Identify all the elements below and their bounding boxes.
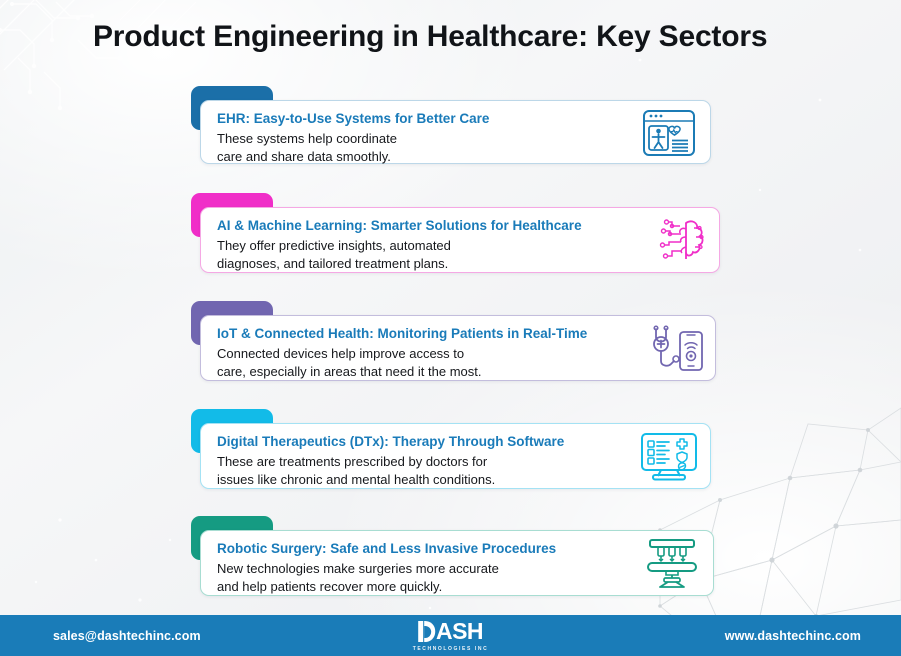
stethoscope-smartphone-icon [649, 323, 707, 377]
footer-email[interactable]: sales@dashtechinc.com [53, 629, 201, 643]
card-body: Connected devices help improve access to… [217, 345, 701, 380]
card-ai-ml[interactable]: AI & Machine Learning: Smarter Solutions… [191, 193, 711, 273]
card-body: New technologies make surgeries more acc… [217, 560, 699, 595]
card-body: They offer predictive insights, automate… [217, 237, 705, 272]
card-body-line-1: These are treatments prescribed by docto… [217, 453, 696, 471]
card-heading: AI & Machine Learning: Smarter Solutions… [217, 217, 705, 234]
card-body: These are treatments prescribed by docto… [217, 453, 696, 488]
footer-website[interactable]: www.dashtechinc.com [725, 629, 861, 643]
logo-d-mark [418, 621, 435, 642]
card-ehr[interactable]: EHR: Easy-to-Use Systems for Better Care… [191, 86, 711, 164]
card-body-line-1: Connected devices help improve access to [217, 345, 701, 363]
cards-list: EHR: Easy-to-Use Systems for Better Care… [0, 0, 901, 620]
card-heading: IoT & Connected Health: Monitoring Patie… [217, 325, 701, 342]
card-body: These systems help coordinate care and s… [217, 130, 696, 165]
logo-text: ASH [436, 620, 483, 643]
ai-brain-circuit-icon [655, 216, 709, 266]
card-body-line-1: They offer predictive insights, automate… [217, 237, 705, 255]
card-surface: Robotic Surgery: Safe and Less Invasive … [200, 530, 714, 596]
logo-wordmark: ASH [413, 620, 489, 644]
card-heading: Robotic Surgery: Safe and Less Invasive … [217, 540, 699, 557]
ehr-record-window-icon [640, 107, 698, 159]
logo-tagline: TECHNOLOGIES INC [413, 647, 489, 652]
card-iot[interactable]: IoT & Connected Health: Monitoring Patie… [191, 301, 711, 381]
card-robotic-surgery[interactable]: Robotic Surgery: Safe and Less Invasive … [191, 516, 711, 596]
surgical-robot-icon [643, 536, 701, 592]
card-body-line-1: These systems help coordinate [217, 130, 696, 148]
footer-bar: sales@dashtechinc.com ASH TECHNOLOGIES I… [0, 615, 901, 656]
card-surface: IoT & Connected Health: Monitoring Patie… [200, 315, 716, 381]
card-dtx[interactable]: Digital Therapeutics (DTx): Therapy Thro… [191, 409, 711, 489]
card-body-line-1: New technologies make surgeries more acc… [217, 560, 699, 578]
card-body-line-2: care and share data smoothly. [217, 148, 696, 166]
card-body-line-2: issues like chronic and mental health co… [217, 471, 696, 489]
card-surface: AI & Machine Learning: Smarter Solutions… [200, 207, 720, 273]
card-body-line-2: diagnoses, and tailored treatment plans. [217, 255, 705, 273]
monitor-checklist-icon [638, 430, 700, 484]
card-body-line-2: and help patients recover more quickly. [217, 578, 699, 596]
card-heading: EHR: Easy-to-Use Systems for Better Care [217, 110, 696, 127]
card-surface: EHR: Easy-to-Use Systems for Better Care… [200, 100, 711, 164]
card-body-line-2: care, especially in areas that need it t… [217, 363, 701, 381]
dash-logo: ASH TECHNOLOGIES INC [413, 620, 489, 652]
card-heading: Digital Therapeutics (DTx): Therapy Thro… [217, 433, 696, 450]
card-surface: Digital Therapeutics (DTx): Therapy Thro… [200, 423, 711, 489]
